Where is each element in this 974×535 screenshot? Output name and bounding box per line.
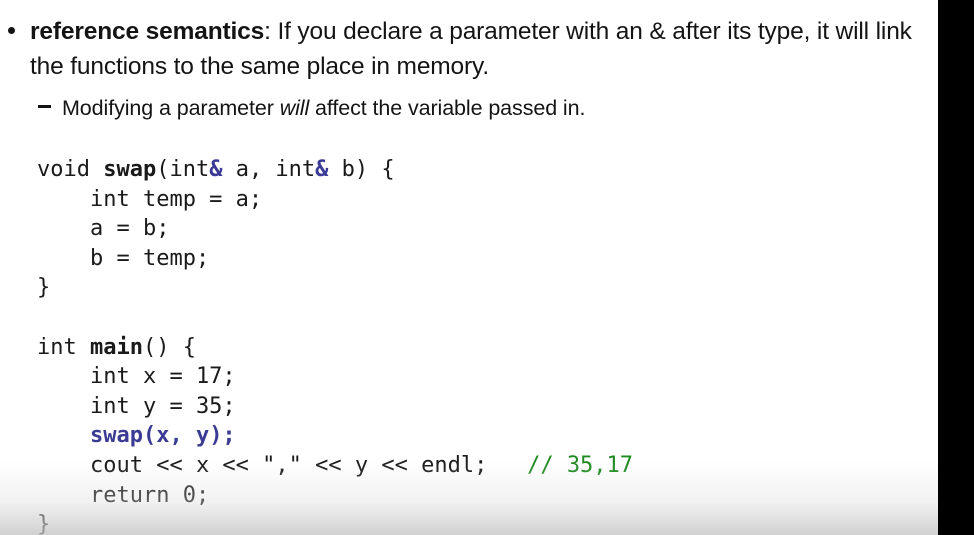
code-token-plain: cout << x << "," << y << endl; [37,453,527,478]
code-line: int temp = a; [37,185,633,215]
code-token-plain: } [37,512,50,535]
letterbox-right-bar [938,0,974,535]
slide-root: reference semantics: If you declare a pa… [0,0,974,535]
code-line: return 0; [37,481,633,511]
code-token-amp: & [209,157,222,182]
code-token-bold: swap [103,157,156,182]
code-token-bold: main [90,335,143,360]
code-token-plain: b) { [328,157,394,182]
code-token-plain: int temp = a; [37,187,262,212]
code-line: swap(x, y); [37,421,633,451]
code-line: void swap(int& a, int& b) { [37,155,633,185]
code-block: void swap(int& a, int& b) { int temp = a… [37,155,633,535]
bullet-dot-icon [8,27,15,34]
code-token-plain: (int [156,157,209,182]
code-line: } [37,510,633,535]
code-token-plain: a = b; [37,216,169,241]
code-token-call: swap(x, y); [90,423,236,448]
code-token-plain [37,423,90,448]
slide-canvas: reference semantics: If you declare a pa… [0,0,938,535]
code-line: } [37,273,633,303]
code-token-plain: } [37,275,50,300]
code-token-plain: a, int [222,157,315,182]
sub-bullet-after: affect the variable passed in. [309,96,585,120]
sub-bullet-text: Modifying a parameter will affect the va… [62,96,585,120]
main-bullet-text: reference semantics: If you declare a pa… [30,18,912,80]
code-token-plain: return 0; [37,483,209,508]
sub-bullet-before: Modifying a parameter [62,96,280,120]
code-line: int main() { [37,333,633,363]
code-token-plain: int [37,335,90,360]
main-bullet: reference semantics: If you declare a pa… [0,14,920,84]
code-token-plain: () { [143,335,196,360]
sub-bullet: Modifying a parameter will affect the va… [0,93,920,124]
code-token-amp: & [315,157,328,182]
code-token-plain: b = temp; [37,246,209,271]
main-bullet-term: reference semantics [30,18,264,45]
code-token-plain: void [37,157,103,182]
sub-bullet-emphasis: will [280,96,309,120]
code-line: int x = 17; [37,362,633,392]
code-token-plain: int x = 17; [37,364,236,389]
code-line: int y = 35; [37,392,633,422]
code-token-comment: // 35,17 [527,453,633,478]
code-line [37,303,633,333]
code-line: cout << x << "," << y << endl; // 35,17 [37,451,633,481]
code-line: b = temp; [37,244,633,274]
bullet-list: reference semantics: If you declare a pa… [0,14,920,124]
code-line: a = b; [37,214,633,244]
dash-icon [38,105,51,108]
code-token-plain: int y = 35; [37,394,236,419]
